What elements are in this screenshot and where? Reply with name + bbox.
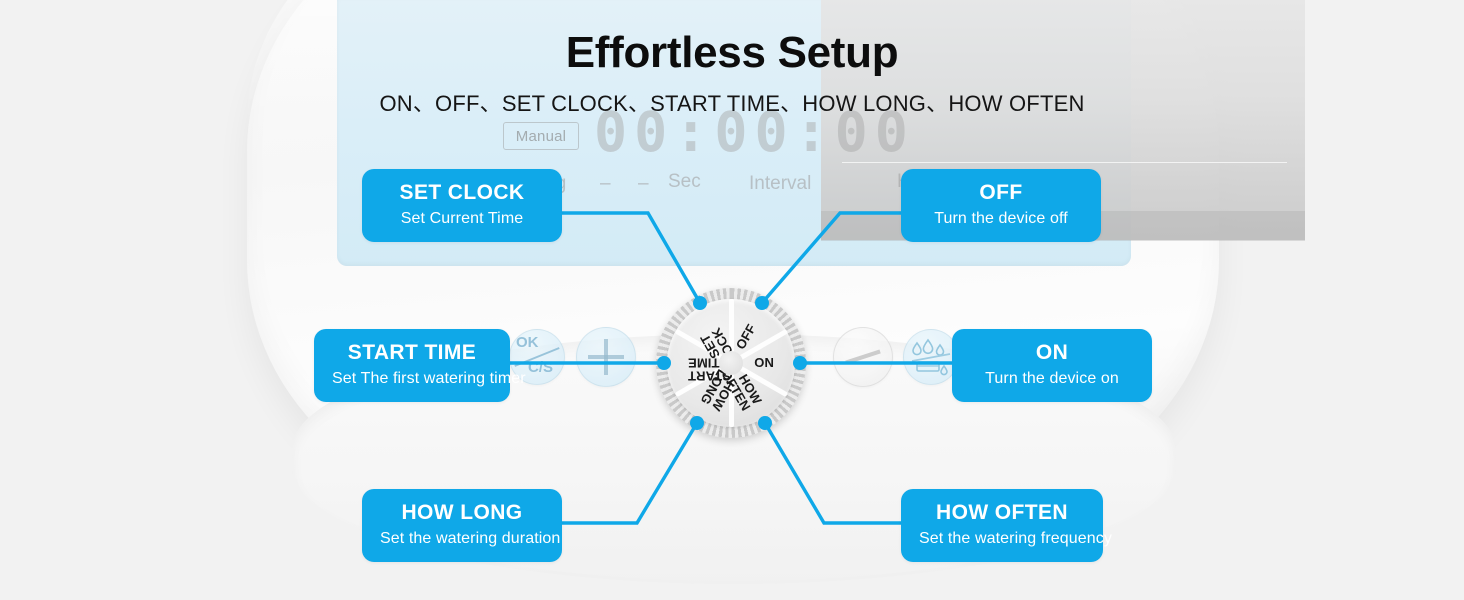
dial-center-hub — [719, 351, 743, 375]
callout-start-time[interactable]: START TIME Set The first watering timer — [314, 329, 510, 402]
callout-subtitle: Turn the device off — [919, 209, 1083, 228]
lcd-label-sec: Sec — [668, 171, 701, 193]
plus-icon-vertical — [604, 339, 608, 375]
callout-title: START TIME — [332, 341, 492, 366]
callout-subtitle: Set the watering frequency — [919, 529, 1085, 548]
page-title: Effortless Setup — [0, 28, 1464, 78]
manual-button[interactable]: Manual — [503, 122, 579, 150]
callout-subtitle: Set the watering duration — [380, 529, 544, 548]
lcd-label-interval: Interval — [749, 173, 811, 195]
callout-subtitle: Turn the device on — [970, 369, 1134, 388]
callout-title: SET CLOCK — [380, 181, 544, 206]
page-subtitle: ON、OFF、SET CLOCK、START TIME、HOW LONG、HOW… — [0, 86, 1464, 118]
callout-how-often[interactable]: HOW OFTEN Set the watering frequency — [901, 489, 1103, 562]
mode-selector-dial[interactable]: OFFONHOWOFTENHOWLONGSTARTTIMESETCLOCK — [656, 288, 806, 438]
ok-cs-top-label: OK — [516, 334, 539, 351]
callout-on[interactable]: ON Turn the device on — [952, 329, 1152, 402]
callout-title: HOW LONG — [380, 501, 544, 526]
callout-subtitle: Set Current Time — [380, 209, 544, 228]
callout-how-long[interactable]: HOW LONG Set the watering duration — [362, 489, 562, 562]
callout-title: OFF — [919, 181, 1083, 206]
callout-off[interactable]: OFF Turn the device off — [901, 169, 1101, 242]
effortless-setup-infographic: Manual 00:00:00 ing – – Sec Interval H O… — [0, 0, 1464, 600]
rain-drop-icon — [903, 329, 959, 385]
callout-subtitle: Set The first watering timer — [332, 369, 492, 388]
lcd-label-dash-2: – — [638, 173, 649, 195]
lcd-label-dash-1: – — [600, 173, 611, 195]
callout-set-clock[interactable]: SET CLOCK Set Current Time — [362, 169, 562, 242]
callout-title: HOW OFTEN — [919, 501, 1085, 526]
callout-title: ON — [970, 341, 1134, 366]
ok-cs-bottom-label: C/S — [528, 359, 553, 376]
